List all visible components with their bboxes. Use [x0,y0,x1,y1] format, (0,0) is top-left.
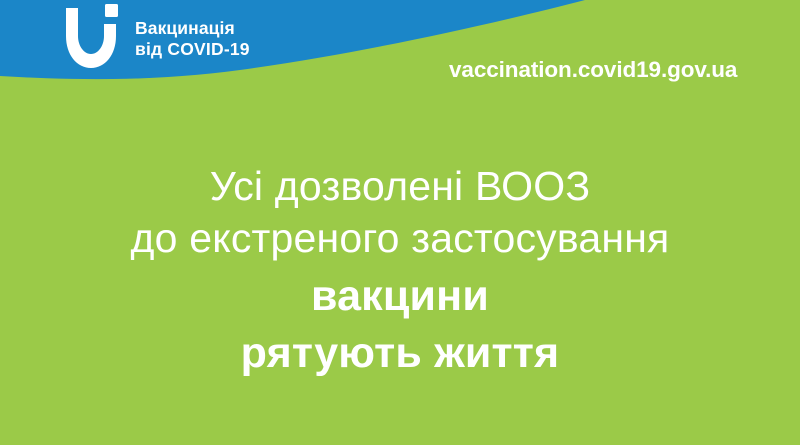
headline-line-2: до екстреного застосування [0,212,800,264]
headline-line-1: Усі дозволені ВООЗ [0,160,800,212]
site-url[interactable]: vaccination.covid19.gov.ua [449,57,737,83]
headline-line-4: рятують життя [0,325,800,382]
vaccination-banner: Вакцинація від COVID-19 vaccination.covi… [0,0,800,445]
headline-block: Усі дозволені ВООЗ до екстреного застосу… [0,160,800,382]
logo-text-line2: від COVID-19 [135,39,250,59]
logo-lockup[interactable]: Вакцинація від COVID-19 [62,2,250,74]
headline-line-3: вакцини [0,268,800,325]
logo-text-line1: Вакцинація [135,18,235,38]
logo-text: Вакцинація від COVID-19 [135,18,250,60]
vaccination-v-logo-icon [62,2,126,74]
